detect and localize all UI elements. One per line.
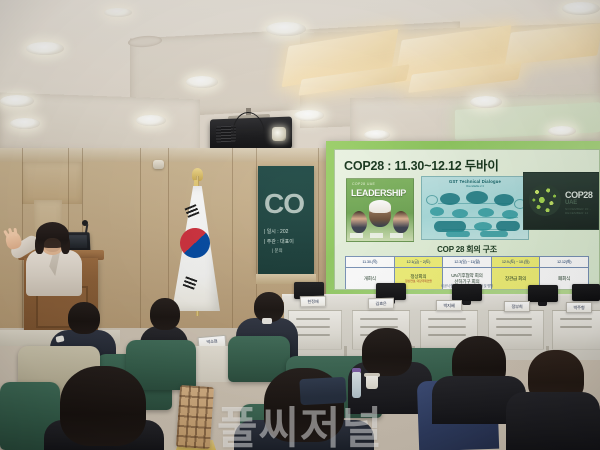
wall-seam <box>140 148 141 328</box>
speaker-face <box>44 238 61 252</box>
cop28-dates-label: NOVEMBER 30 - DECEMBER 12 <box>565 207 598 215</box>
name-placard: 박주형 <box>566 302 592 313</box>
table-header-cell: 12.12(화) <box>540 257 588 268</box>
slide-image-gst-diagram: GST Technical Dialogue Roundtable 2.3 <box>421 176 529 240</box>
ceiling-downlight <box>562 2 600 15</box>
ceiling-downlight <box>0 95 34 107</box>
shirt-collar <box>262 318 272 324</box>
gst-title: GST Technical Dialogue <box>422 179 528 184</box>
table-header-cell: 12.9.(토) ~ 10.(일) <box>492 257 540 268</box>
ceiling-downlight <box>266 22 306 36</box>
banner-host-line: | 주관 : 대표이 <box>264 238 294 245</box>
ceiling-downlight <box>136 115 166 126</box>
ceiling-downlight <box>186 76 218 88</box>
water-bottle <box>352 372 361 398</box>
wall-panel <box>22 162 82 204</box>
leadership-figure-right <box>393 211 409 233</box>
ceiling <box>0 0 600 152</box>
slide-image-cop28-logo: COP28 UAE NOVEMBER 30 - DECEMBER 12 <box>523 172 599 230</box>
name-placard: 정부희 <box>504 301 530 312</box>
banner-headline: CO <box>264 188 304 220</box>
ceiling-downlight <box>26 42 64 55</box>
paper-cup <box>366 376 378 389</box>
projector-lens <box>272 127 286 141</box>
laptop-bag <box>299 377 346 405</box>
cop28-uae-label: UAE <box>565 200 577 206</box>
ceiling-downlight <box>294 110 324 121</box>
ceiling-downlight <box>364 130 390 140</box>
attendee-head <box>68 302 100 334</box>
event-banner: CO | 일시 : 202 | 주관 : 대표이 | 문의 <box>258 166 314 274</box>
plaid-scarf <box>176 385 214 449</box>
banner-date-line: | 일시 : 202 <box>264 228 288 235</box>
banner-contact-line: | 문의 <box>272 248 283 254</box>
name-placard: 김효은 <box>368 298 394 309</box>
conference-room-photo: CO | 일시 : 202 | 주관 : 대표이 | 문의 COP28 : 11… <box>0 0 600 450</box>
table-header-cell: 12.3(일) ~ 11(월) <box>443 257 491 268</box>
ceiling-downlight <box>104 8 132 17</box>
attendee-body <box>506 392 600 450</box>
table-header-cell: 12.1(금) ~ 2(토) <box>395 257 443 268</box>
desk-monitor <box>528 285 558 302</box>
keffiyeh <box>369 200 391 213</box>
ceiling-downlight <box>470 96 502 108</box>
attendee-head <box>362 328 412 376</box>
desk-modesty-panel <box>552 310 600 350</box>
leadership-name-strip <box>350 233 410 238</box>
table-header-cell: 11.30.(목) <box>346 257 394 268</box>
leadership-figure-left <box>351 211 367 233</box>
name-placard: 박지혜 <box>436 300 462 311</box>
attendee-head <box>150 298 180 330</box>
leadership-word: LEADERSHIP <box>351 188 406 198</box>
gst-subtitle: Roundtable 2.3 <box>422 185 528 188</box>
leadership-kicker: COP28 UAE <box>352 182 375 186</box>
presentation-slide: COP28 : 11.30~12.12 두바이 COP28 UAE LEADER… <box>326 141 600 296</box>
slide-image-leadership: COP28 UAE LEADERSHIP <box>346 178 414 242</box>
ceiling-downlight <box>548 126 576 136</box>
slide-title: COP28 : 11.30~12.12 두바이 <box>344 155 499 174</box>
wall-seam <box>22 148 23 328</box>
wall-seam <box>232 148 233 328</box>
ceiling-sensor <box>153 160 164 169</box>
cop28-globe-icon <box>529 184 561 216</box>
desk-monitor <box>572 284 600 301</box>
slide-structure-title: COP 28 회의 구조 <box>335 244 599 255</box>
projection-screen: COP28 : 11.30~12.12 두바이 COP28 UAE LEADER… <box>326 141 600 296</box>
attendee-head <box>60 366 146 446</box>
slide-content: COP28 : 11.30~12.12 두바이 COP28 UAE LEADER… <box>334 149 600 290</box>
cop28-wordmark: COP28 <box>565 190 593 200</box>
ceiling-downlight <box>10 118 40 129</box>
name-placard: 한정애 <box>300 296 326 307</box>
desk-monitor <box>452 284 482 301</box>
